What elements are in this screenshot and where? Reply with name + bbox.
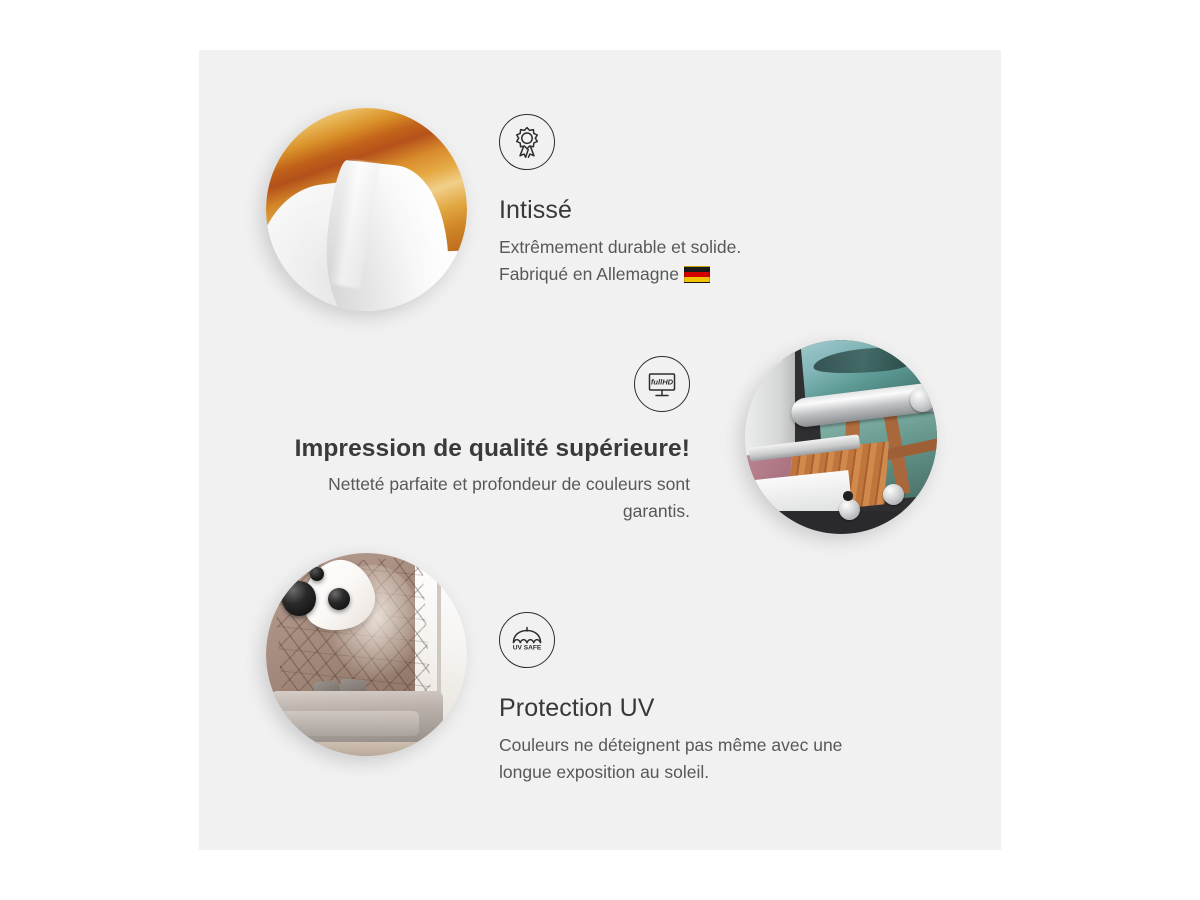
feature-body-line-1: Netteté parfaite et profondeur de couleu…	[328, 474, 690, 494]
printing-machine-photo	[745, 340, 937, 534]
german-flag-icon	[684, 266, 710, 283]
uv-safe-umbrella-icon: UV SAFE	[499, 612, 555, 668]
feature-block-print-quality: fullHD Impression de qualité supérieure!…	[286, 356, 690, 525]
peeling-wallpaper-photo	[266, 108, 467, 311]
feature-body-line-2: garantis.	[623, 501, 690, 521]
product-feature-infographic: Intissé Extrêmement durable et solide. F…	[0, 0, 1200, 900]
feature-title: Impression de qualité supérieure!	[286, 435, 690, 463]
svg-text:UV SAFE: UV SAFE	[513, 645, 542, 652]
feature-body: Extrêmement durable et solide. Fabriqué …	[499, 234, 741, 288]
feature-body: Couleurs ne déteignent pas même avec une…	[499, 732, 842, 786]
living-room-mural-photo	[266, 553, 467, 756]
feature-title: Protection UV	[499, 694, 842, 723]
feature-body-line-1: Couleurs ne déteignent pas même avec une	[499, 735, 842, 755]
feature-block-intisse: Intissé Extrêmement durable et solide. F…	[499, 114, 741, 288]
fullhd-monitor-icon: fullHD	[634, 356, 690, 412]
award-rosette-icon	[499, 114, 555, 170]
svg-text:fullHD: fullHD	[651, 377, 674, 386]
feature-block-uv-protection: UV SAFE Protection UV Couleurs ne déteig…	[499, 612, 842, 786]
feature-body-line-2: longue exposition au soleil.	[499, 762, 709, 782]
feature-body: Netteté parfaite et profondeur de couleu…	[286, 471, 690, 525]
feature-body-line-2: Fabriqué en Allemagne	[499, 264, 679, 284]
feature-body-line-1: Extrêmement durable et solide.	[499, 237, 741, 257]
feature-title: Intissé	[499, 196, 741, 225]
